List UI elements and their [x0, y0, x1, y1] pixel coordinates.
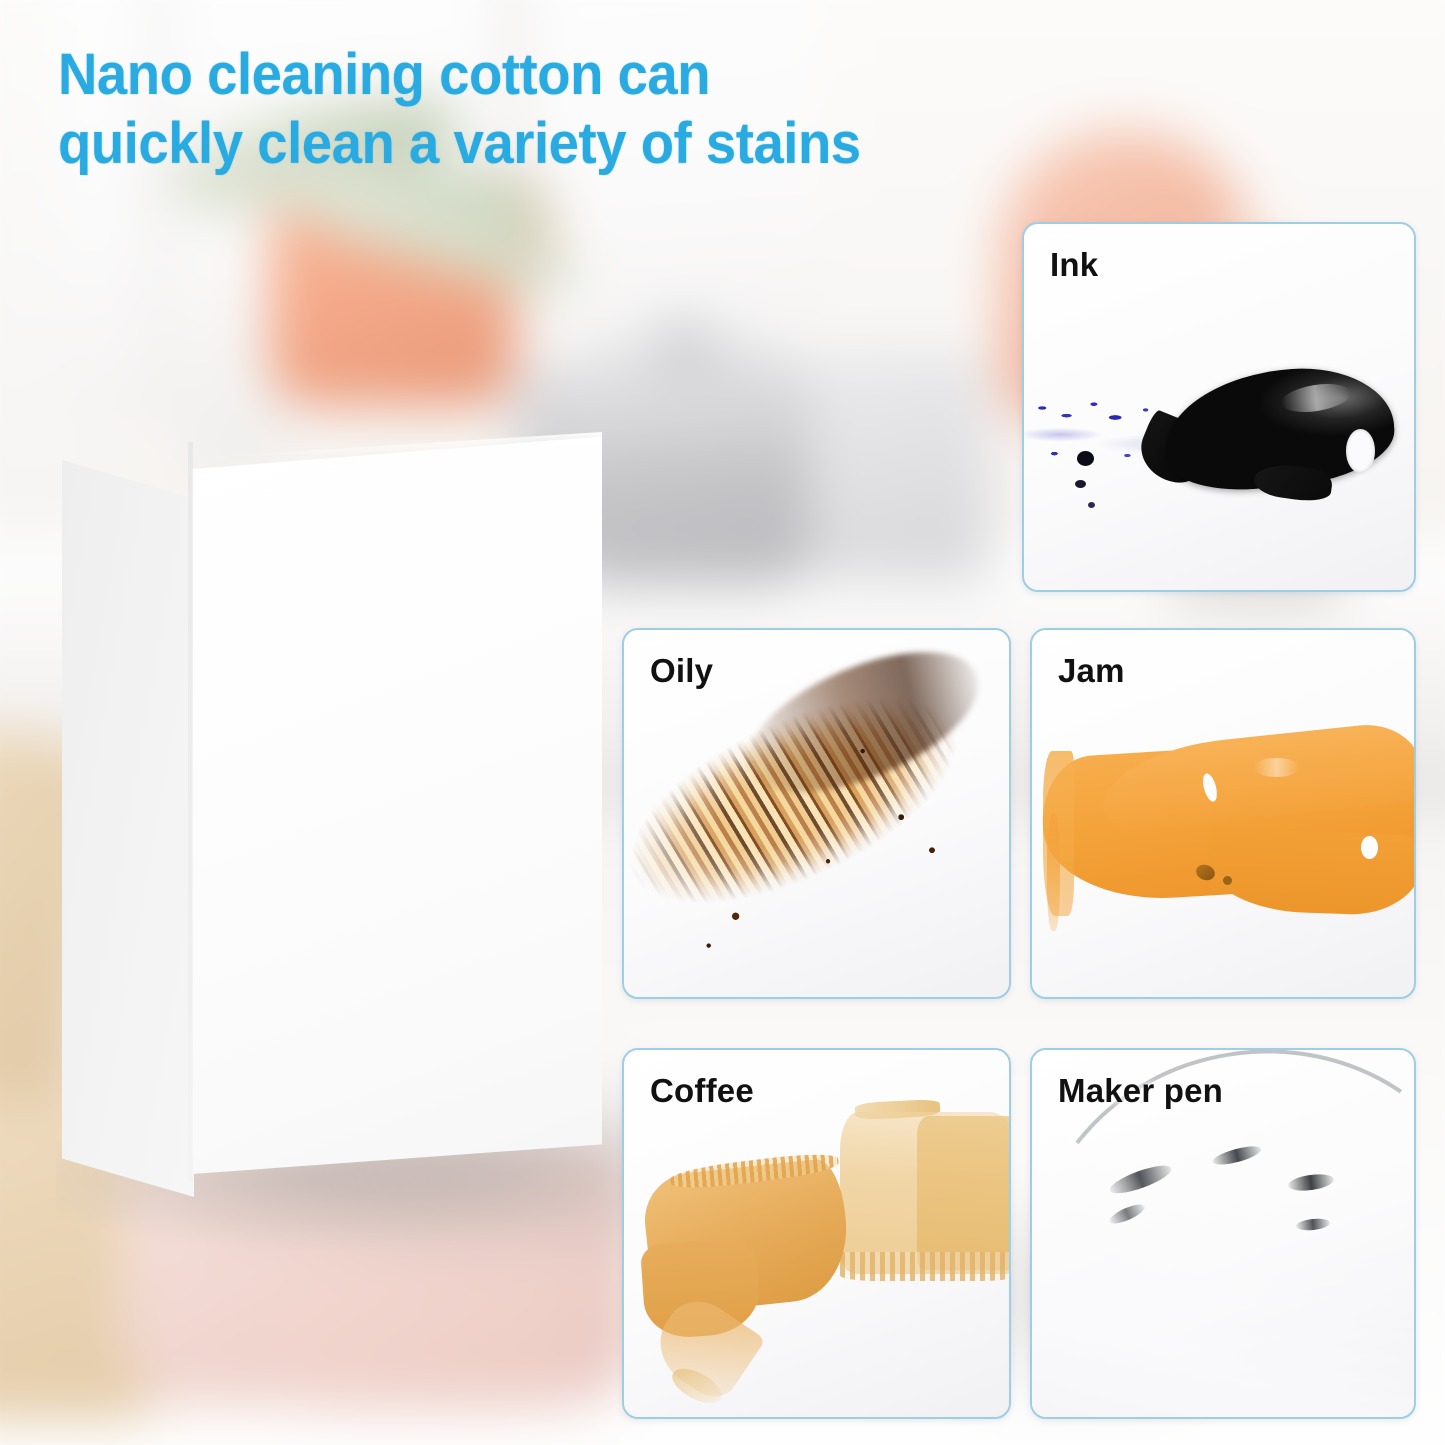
stain-card-label-maker-pen: Maker pen: [1058, 1072, 1223, 1110]
jam-smear-lower: [1206, 828, 1416, 916]
headline-text: Nano cleaning cotton can quickly clean a…: [58, 40, 1026, 178]
sponge-product-image: [62, 432, 602, 1197]
stain-card-label-coffee: Coffee: [650, 1072, 754, 1110]
ink-droplet: [1077, 451, 1094, 466]
sponge-corner-edge: [188, 442, 193, 1182]
stain-card-coffee[interactable]: Coffee: [622, 1048, 1011, 1419]
product-marketing-image: Nano cleaning cotton can quickly clean a…: [0, 0, 1445, 1445]
ink-droplet: [1088, 502, 1095, 508]
stain-card-oily[interactable]: Oily: [622, 628, 1011, 999]
stain-card-maker-pen[interactable]: Maker pen: [1030, 1048, 1416, 1419]
stain-card-ink[interactable]: Ink: [1022, 222, 1416, 592]
jam-highlight: [1361, 836, 1378, 860]
ink-droplet: [1075, 480, 1086, 488]
jam-highlight: [1254, 758, 1300, 776]
coffee-stain-fringe: [840, 1252, 1011, 1281]
sponge-front-face: [192, 432, 602, 1174]
stain-card-label-jam: Jam: [1058, 652, 1125, 690]
background-pan-knob: [655, 322, 715, 366]
background-kettle: [810, 350, 990, 580]
stain-card-jam[interactable]: Jam: [1030, 628, 1416, 999]
stain-card-label-oily: Oily: [650, 652, 713, 690]
coffee-stain-right-dark: [917, 1116, 1011, 1270]
sponge-left-face: [62, 460, 194, 1197]
stain-card-label-ink: Ink: [1050, 246, 1098, 284]
jam-drip: [1047, 814, 1060, 931]
ink-blob-hole: [1346, 429, 1375, 473]
